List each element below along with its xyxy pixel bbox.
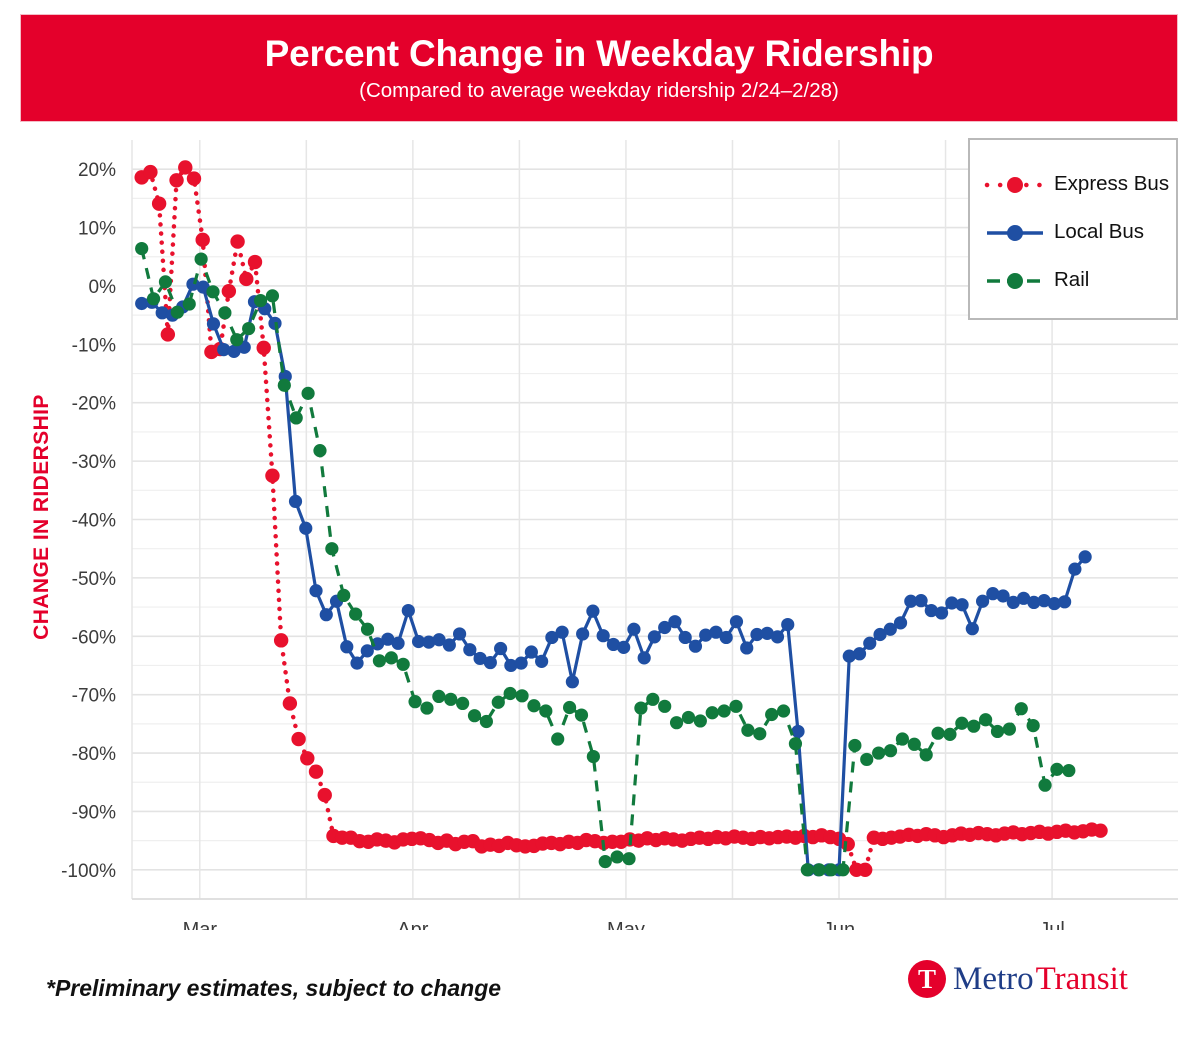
- legend-item-local-bus[interactable]: Local Bus: [984, 208, 1176, 256]
- y-tick-label: -30%: [72, 452, 116, 473]
- logo-word-transit: Transit: [1036, 963, 1128, 996]
- legend-label-local-bus: Local Bus: [1054, 220, 1144, 244]
- ridership-chart: Percent Change in Weekday Ridership (Com…: [0, 0, 1200, 1046]
- y-tick-label: -20%: [72, 394, 116, 415]
- y-tick-label: 0%: [89, 277, 117, 298]
- x-tick-label: Mar: [183, 919, 218, 930]
- y-tick-label: -40%: [72, 511, 116, 532]
- logo-word-metro: Metro: [953, 963, 1034, 996]
- series-local-bus: [135, 278, 1092, 877]
- x-tick-label: Apr: [397, 919, 428, 930]
- legend-swatch-rail: [984, 270, 1046, 290]
- legend-label-express-bus: Express Bus: [1054, 172, 1169, 196]
- y-tick-label: -100%: [61, 861, 116, 882]
- y-tick-label: -80%: [72, 744, 116, 765]
- chart-legend: Express Bus Local Bus Rail: [968, 138, 1178, 320]
- y-tick-label: 20%: [78, 160, 116, 181]
- footnote: *Preliminary estimates, subject to chang…: [46, 975, 501, 1002]
- legend-item-rail[interactable]: Rail: [984, 256, 1176, 304]
- y-tick-label: 10%: [78, 219, 116, 240]
- x-tick-label: Jul: [1039, 919, 1065, 930]
- legend-label-rail: Rail: [1054, 268, 1089, 292]
- y-tick-label: -60%: [72, 627, 116, 648]
- legend-swatch-local-bus: [984, 222, 1046, 242]
- y-tick-label: -10%: [72, 335, 116, 356]
- y-tick-label: -50%: [72, 569, 116, 590]
- legend-swatch-express-bus: [984, 174, 1046, 194]
- logo-circle-icon: T: [908, 960, 946, 998]
- x-tick-label: Jun: [823, 919, 855, 930]
- y-tick-label: -70%: [72, 686, 116, 707]
- series-express-bus: [134, 160, 1107, 877]
- x-tick-label: May: [607, 919, 645, 930]
- metro-transit-logo: T Metro Transit: [908, 960, 1128, 998]
- y-tick-label: -90%: [72, 802, 116, 823]
- logo-t-glyph: T: [918, 966, 936, 993]
- legend-item-express-bus[interactable]: Express Bus: [984, 160, 1176, 208]
